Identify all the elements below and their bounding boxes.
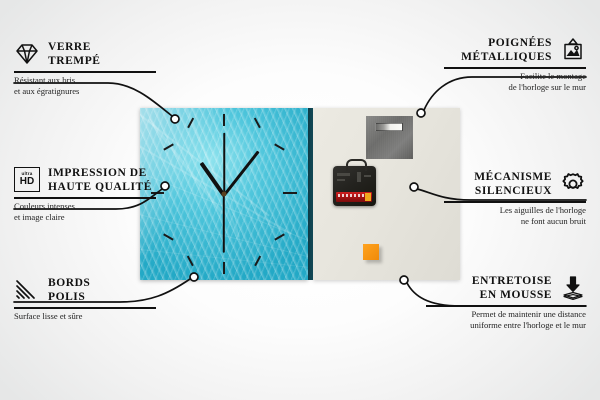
feature-verre-trempe: VERRE TREMPÉ Résistant aux bris et aux é… [14, 40, 156, 97]
feature-rule [444, 67, 586, 69]
feature-description: Facilite le montage de l'horloge sur le … [444, 71, 586, 94]
feature-description: Les aiguilles de l'horloge ne font aucun… [444, 205, 586, 228]
gear-icon [560, 171, 586, 197]
clock-tick [163, 233, 173, 240]
ultra-hd-icon: ultra HD [14, 167, 40, 193]
product-photo [140, 108, 460, 280]
feature-rule [14, 307, 156, 309]
feature-title: MÉCANISME SILENCIEUX [444, 170, 552, 198]
foam-spacer-icon [560, 275, 586, 301]
infographic-canvas: VERRE TREMPÉ Résistant aux bris et aux é… [0, 0, 600, 400]
metal-hanger-part [366, 116, 413, 159]
clock-mechanism-part [333, 166, 376, 206]
clock-tick [254, 118, 261, 128]
feature-bords-polis: BORDS POLIS Surface lisse et sûre [14, 276, 156, 322]
clock-tick [223, 114, 225, 126]
clock-back-panel [313, 108, 460, 280]
feature-rule [444, 201, 586, 203]
feature-description: Couleurs intenses et image claire [14, 201, 156, 224]
feature-rule [426, 305, 586, 307]
battery-part [336, 192, 372, 202]
feature-title: IMPRESSION DE HAUTE QUALITÉ [48, 166, 152, 194]
feature-description: Résistant aux bris et aux égratignures [14, 75, 156, 98]
clock-face [140, 108, 308, 280]
clock-tick [223, 262, 225, 274]
polished-edge-icon [14, 277, 40, 303]
clock-tick [187, 256, 194, 266]
feature-title: POIGNÉES MÉTALLIQUES [444, 36, 552, 64]
clock-second-hand-tail [223, 133, 225, 195]
feature-entretoise-mousse: ENTRETOISE EN MOUSSE Permet de maintenir… [426, 274, 586, 331]
feature-impression-hd: ultra HD IMPRESSION DE HAUTE QUALITÉ Cou… [14, 166, 156, 223]
feature-title: BORDS POLIS [48, 276, 90, 304]
feature-rule [14, 71, 156, 73]
feature-title: ENTRETOISE EN MOUSSE [426, 274, 552, 302]
hanger-slot [375, 123, 403, 131]
feature-description: Surface lisse et sûre [14, 311, 156, 322]
mechanism-hanging-loop [346, 159, 367, 171]
battery-plus-terminal [365, 193, 371, 201]
feature-rule [14, 197, 156, 199]
clock-tick [283, 192, 297, 194]
clock-tick [274, 233, 284, 240]
feature-description: Permet de maintenir une distance uniform… [426, 309, 586, 332]
feature-poignees-metalliques: POIGNÉES MÉTALLIQUES Facilite le montage… [444, 36, 586, 93]
feature-mecanisme-silencieux: MÉCANISME SILENCIEUX Les aiguilles de l'… [444, 170, 586, 227]
hanging-frame-icon [560, 37, 586, 63]
diamond-icon [14, 41, 40, 67]
clock-tick [274, 143, 284, 150]
foam-spacer-part [363, 244, 379, 260]
clock-center-hub [222, 192, 227, 197]
clock-minute-hand [223, 150, 260, 196]
clock-second-hand [223, 195, 225, 253]
feature-title: VERRE TREMPÉ [48, 40, 101, 68]
